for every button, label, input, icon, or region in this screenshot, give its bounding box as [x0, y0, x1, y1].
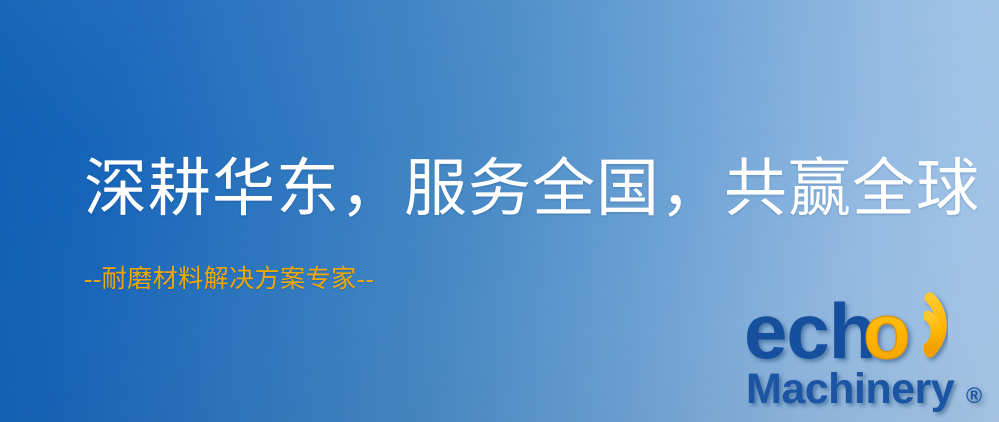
banner-subtitle: --耐磨材料解决方案专家--: [84, 264, 374, 295]
logo-wordmark-accent: o: [863, 287, 911, 375]
logo-wordmark-dark: ech: [744, 287, 875, 375]
wifi-signal-arcs-icon: [928, 298, 941, 352]
echo-machinery-logo: ech o Machinery ®: [744, 290, 992, 416]
promo-banner: 深耕华东，服务全国，共赢全球 --耐磨材料解决方案专家--: [0, 0, 999, 422]
logo-registered-mark: ®: [966, 383, 982, 408]
logo-tagline: Machinery: [746, 365, 955, 413]
banner-headline: 深耕华东，服务全国，共赢全球: [84, 152, 980, 226]
